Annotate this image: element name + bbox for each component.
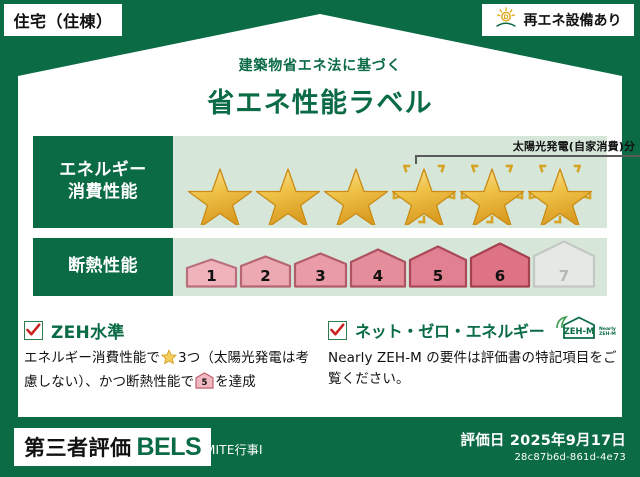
zeh-standard-column: ZEH水準 エネルギー消費性能で3つ（太陽光発電は考慮しない）、かつ断熱性能で5…	[24, 318, 314, 414]
gold-star-icon	[161, 353, 177, 369]
energy-performance-row: エネルギー 消費性能 太陽光発電(自家消費)分	[33, 136, 607, 228]
solar-bracket-label: 太陽光発電(自家消費)分	[415, 138, 640, 154]
insulation-level-number: 1	[206, 267, 216, 285]
insulation-level-achieved: 4	[349, 248, 407, 292]
zeh-standard-description: エネルギー消費性能で3つ（太陽光発電は考慮しない）、かつ断熱性能で5を達成	[24, 348, 314, 395]
checked-checkbox-icon	[328, 321, 347, 340]
svg-text:ZEH-M: ZEH-M	[563, 326, 594, 336]
energy-performance-label-box: エネルギー 消費性能	[33, 136, 173, 228]
net-zero-energy-title: ネット・ゼロ・エネルギー	[355, 318, 545, 342]
building-name: MITE行事Ⅰ	[205, 441, 263, 458]
title-block: 建築物省エネ法に基づく 省エネ性能ラベル	[0, 55, 640, 120]
zeh-desc-post: を達成	[215, 374, 256, 390]
net-zero-energy-column: ネット・ゼロ・エネルギー ZEH-M Nearly ZEH-M Nearly Z…	[328, 318, 618, 414]
evaluation-id: 28c87b6d-861d-4e73	[461, 452, 626, 463]
insulation-level-number: 7	[558, 267, 568, 285]
third-party-eval-label: 第三者評価	[24, 432, 132, 462]
zeh-section: ZEH水準 エネルギー消費性能で3つ（太陽光発電は考慮しない）、かつ断熱性能で5…	[24, 318, 618, 414]
insulation-level-achieved: 3	[293, 252, 348, 292]
insulation-level-achieved: 6	[469, 242, 531, 292]
solar-sun-icon: D	[495, 7, 519, 33]
insulation-level-number: 4	[372, 267, 382, 285]
energy-performance-body: 太陽光発電(自家消費)分	[173, 136, 607, 228]
insulation-performance-label-box: 断熱性能	[33, 238, 173, 296]
house-icon-value: 5	[202, 378, 208, 388]
svg-text:ZEH-M: ZEH-M	[599, 331, 616, 337]
net-zero-energy-description: Nearly ZEH-M の要件は評価書の特記項目をご覧ください。	[328, 348, 618, 389]
footer-bar: 第三者評価 BELS MITE行事Ⅰ 評価日 2025年9月17日 28c87b…	[0, 417, 640, 477]
energy-star-solar	[391, 159, 457, 225]
zeh-m-logo-icon: ZEH-M Nearly ZEH-M	[553, 314, 617, 346]
insulation-performance-body: 1234567	[173, 238, 607, 296]
insulation-label: 断熱性能	[68, 256, 138, 278]
checked-checkbox-icon	[24, 321, 43, 340]
energy-star-filled	[187, 159, 253, 225]
evaluation-info: 評価日 2025年9月17日 28c87b6d-861d-4e73	[461, 429, 626, 463]
building-type-badge: 住宅（住棟）	[4, 4, 122, 36]
svg-text:D: D	[503, 14, 508, 21]
energy-star-solar	[459, 159, 525, 225]
renewable-energy-label: 再エネ設備あり	[524, 10, 622, 30]
insulation-level-scale: 1234567	[173, 240, 607, 292]
insulation-level-number: 5	[432, 267, 442, 285]
insulation-level-number: 2	[260, 267, 270, 285]
insulation-level-achieved: 2	[239, 255, 292, 292]
energy-star-solar	[527, 159, 593, 225]
insulation-level-achieved: 5	[408, 245, 468, 292]
zeh-desc-pre: エネルギー消費性能で	[24, 350, 160, 366]
building-type-label: 住宅（住棟）	[13, 8, 112, 32]
insulation-level-achieved: 1	[185, 258, 238, 292]
zeh-standard-title: ZEH水準	[51, 318, 125, 343]
title-subtitle: 建築物省エネ法に基づく	[0, 55, 640, 75]
insulation-house-icon-5: 5	[195, 377, 214, 393]
evaluation-date: 評価日 2025年9月17日	[461, 429, 626, 450]
bels-plate: 第三者評価 BELS	[14, 428, 211, 466]
insulation-performance-row: 断熱性能 1234567	[33, 238, 607, 296]
net-zero-energy-heading: ネット・ゼロ・エネルギー ZEH-M Nearly ZEH-M	[328, 318, 618, 342]
energy-star-filled	[323, 159, 389, 225]
zeh-standard-heading: ZEH水準	[24, 318, 314, 342]
energy-performance-label: 住宅（住棟） D 再エネ設備あり 建築物省エネ法に基づく 省エネ性能ラベル	[0, 0, 640, 477]
energy-star-rating	[173, 159, 607, 225]
insulation-level-number: 6	[494, 267, 504, 285]
title-main: 省エネ性能ラベル	[0, 81, 640, 120]
renewable-energy-badge: D 再エネ設備あり	[482, 4, 634, 36]
energy-star-filled	[255, 159, 321, 225]
energy-label-line2: 消費性能	[68, 182, 138, 204]
evaluation-date-label: 評価日	[461, 433, 505, 449]
bels-logo-text: BELS	[137, 433, 202, 462]
energy-label-line1: エネルギー	[59, 160, 147, 182]
evaluation-date-value: 2025年9月17日	[510, 433, 626, 449]
insulation-level-inactive: 7	[532, 240, 596, 292]
insulation-level-number: 3	[315, 267, 325, 285]
